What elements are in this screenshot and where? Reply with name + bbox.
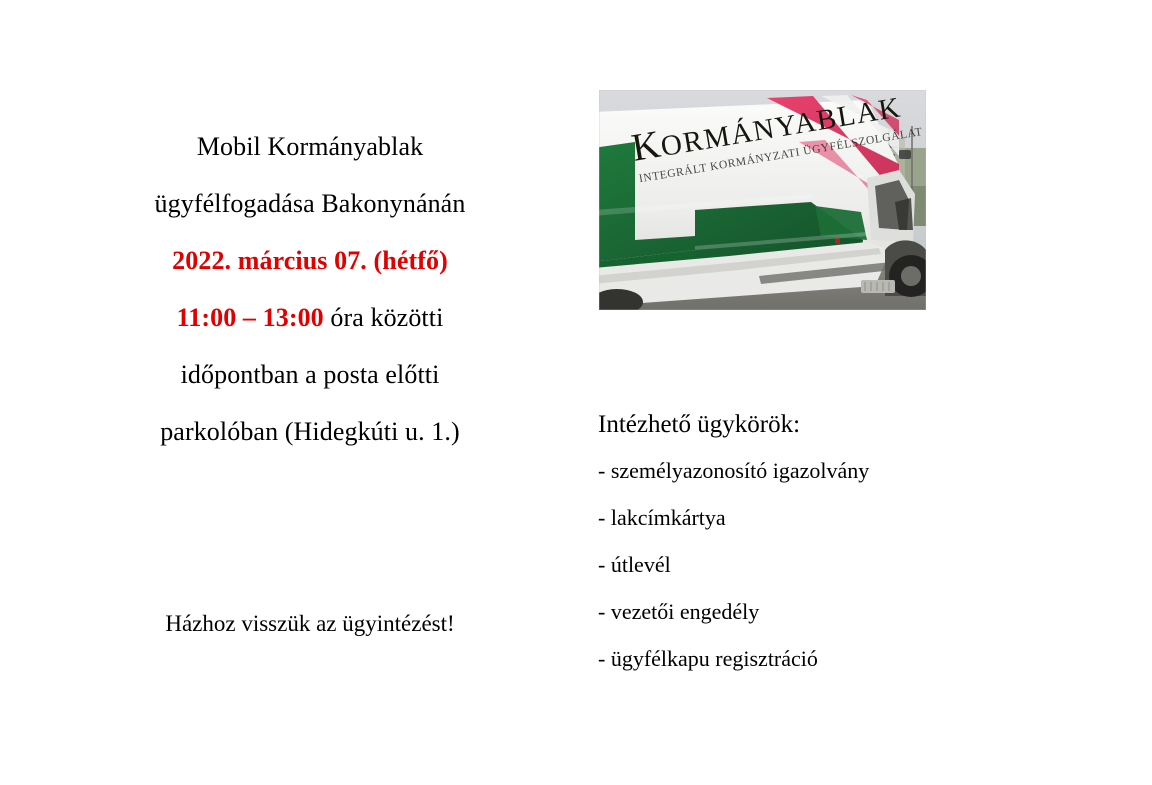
poster-page: Mobil Kormányablak ügyfélfogadása Bakony… (0, 0, 1152, 785)
service-item: - vezetői engedély (598, 597, 1118, 627)
tagline: Házhoz visszük az ügyintézést! (60, 608, 560, 640)
announcement-line-5: időpontban a posta előtti (60, 346, 560, 403)
announcement-time-suffix: óra közötti (324, 303, 444, 332)
service-item: - lakcímkártya (598, 503, 1118, 533)
mobile-office-van-photo: K ORMÁNYABLAK INTEGRÁLT KORMÁNYZATI ÜGYF… (599, 90, 926, 310)
announcement-time-range: 11:00 – 13:00 (177, 303, 324, 332)
announcement-line-2: ügyfélfogadása Bakonynánán (60, 175, 560, 232)
service-item: - személyazonosító igazolvány (598, 456, 1118, 486)
van-illustration: K ORMÁNYABLAK INTEGRÁLT KORMÁNYZATI ÜGYF… (599, 90, 926, 310)
service-item: - ügyfélkapu regisztráció (598, 644, 1118, 674)
service-item: - útlevél (598, 550, 1118, 580)
services-heading: Intézhető ügykörök: (598, 408, 1118, 442)
announcement-date: 2022. március 07. (hétfő) (60, 232, 560, 289)
services-block: Intézhető ügykörök: - személyazonosító i… (598, 408, 1118, 674)
announcement-time-line: 11:00 – 13:00 óra közötti (60, 289, 560, 346)
announcement-block: Mobil Kormányablak ügyfélfogadása Bakony… (60, 118, 560, 460)
announcement-line-6: parkolóban (Hidegkúti u. 1.) (60, 403, 560, 460)
announcement-line-1: Mobil Kormányablak (60, 118, 560, 175)
